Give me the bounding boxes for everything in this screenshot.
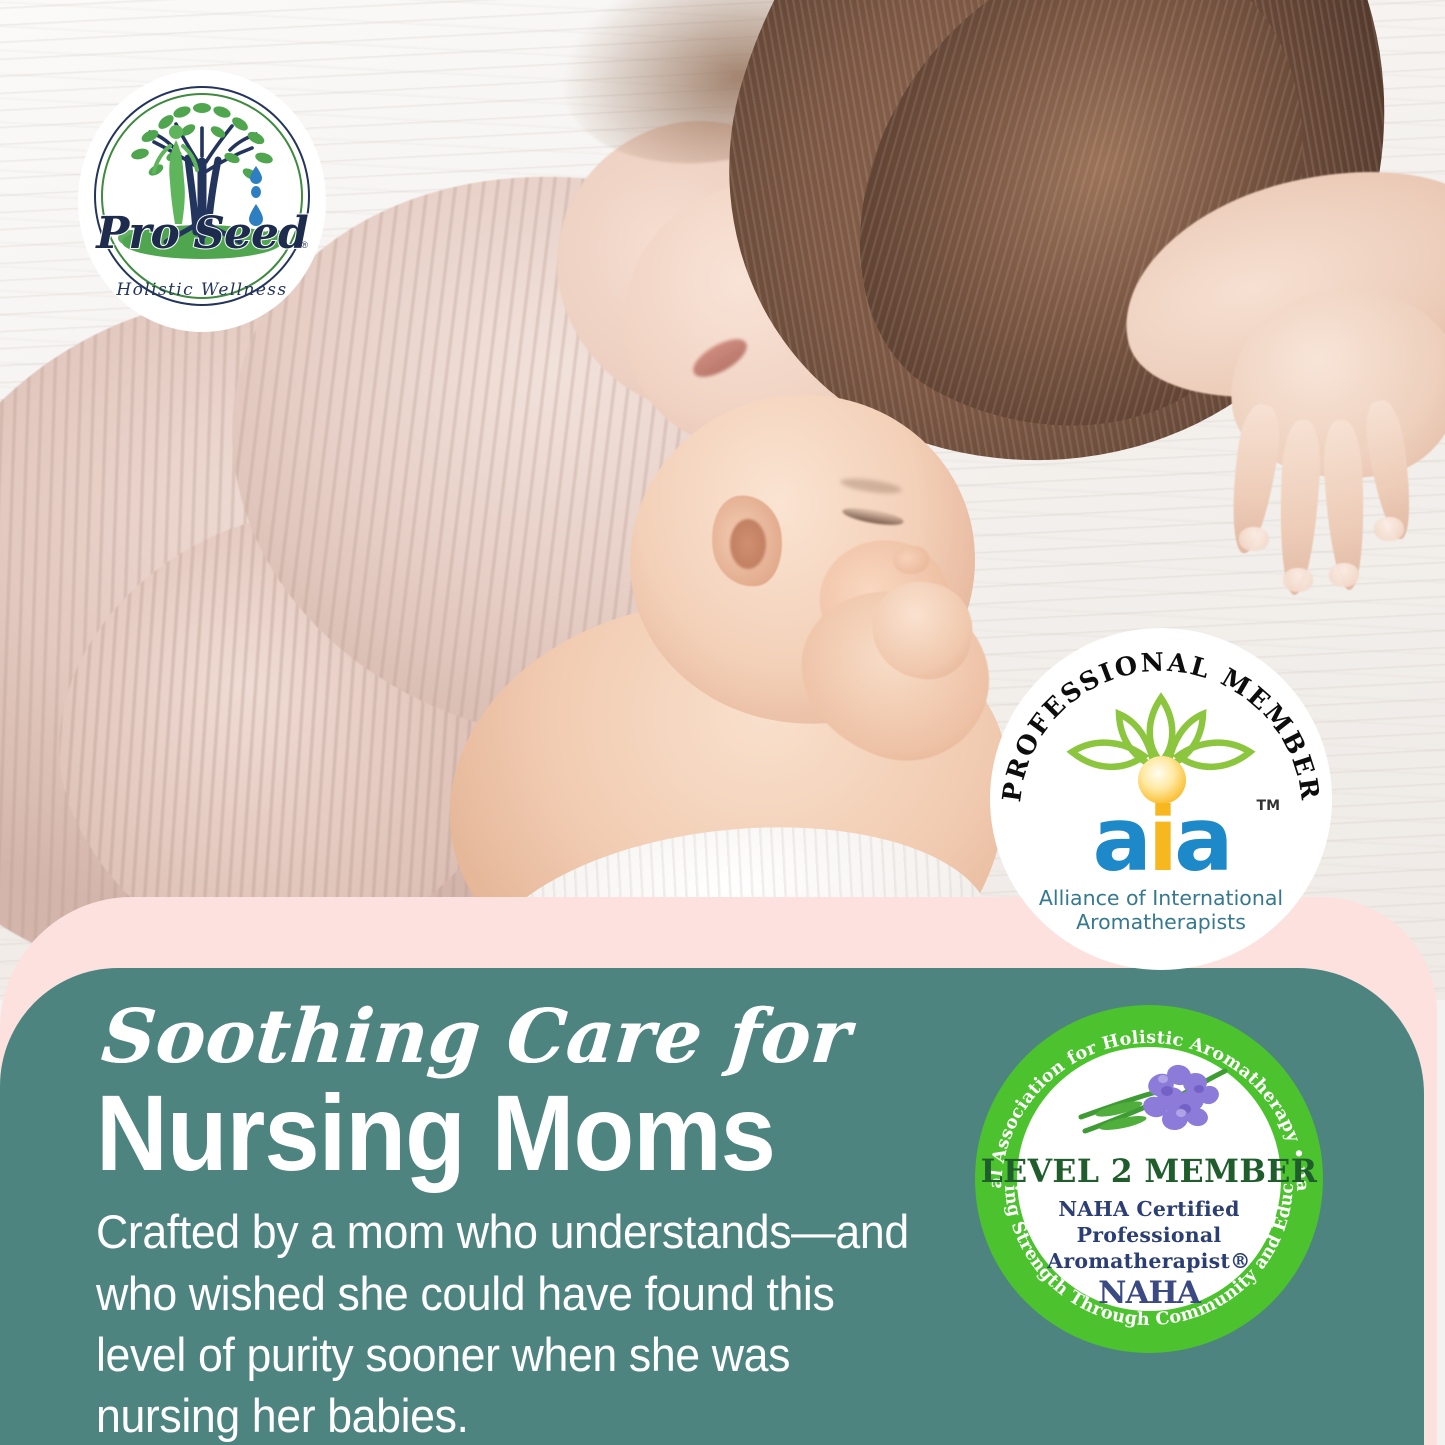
lavender-sprig-icon — [1075, 1055, 1231, 1147]
body-paragraph: Crafted by a mom who understands—and who… — [96, 1201, 932, 1445]
copy-block: Soothing Care for Nursing Moms Crafted b… — [96, 1000, 976, 1445]
aia-subtitle: Alliance of International Aromatherapist… — [990, 886, 1332, 934]
fingernail — [1283, 568, 1313, 592]
fingernail — [1374, 517, 1404, 541]
registered-mark: ® — [301, 240, 308, 250]
naha-cert-line-3: Aromatherapist® — [975, 1249, 1323, 1275]
aia-letter-a2: a — [1174, 788, 1229, 891]
logo-script-text: Pro Seed — [78, 208, 326, 259]
naha-cert-line-1: NAHA Certified — [975, 1197, 1323, 1223]
promotional-graphic: Soothing Care for Nursing Moms Crafted b… — [0, 0, 1445, 1445]
naha-level-label: LEVEL 2 MEMBER — [975, 1153, 1323, 1190]
proseed-logo: Pro Seed ® Holistic Wellness — [78, 70, 326, 332]
aia-wordmark: aia — [990, 796, 1332, 884]
aia-letter-i: i — [1148, 788, 1174, 891]
naha-certification-label: NAHA Certified Professional Aromatherapi… — [975, 1197, 1323, 1274]
main-headline: Nursing Moms — [96, 1079, 906, 1187]
aia-subtitle-line-1: Alliance of International — [990, 886, 1332, 910]
fingernail — [1239, 527, 1269, 551]
baby-ear-inner — [730, 519, 766, 569]
aia-letter-a1: a — [1093, 788, 1148, 891]
aia-subtitle-line-2: Aromatherapists — [990, 910, 1332, 934]
script-headline: Soothing Care for — [99, 1000, 980, 1075]
fingernail — [1329, 563, 1359, 587]
naha-cert-line-2: Professional — [975, 1223, 1323, 1249]
naha-level-2-member-badge: National Association for Holistic Aromat… — [975, 1005, 1323, 1353]
logo-tagline: Holistic Wellness — [78, 280, 326, 300]
aia-trademark: TM — [1257, 798, 1280, 814]
naha-wordmark: NAHA — [975, 1275, 1323, 1311]
aia-professional-member-badge: PROFESSIONAL MEMBER aia TM Alliance of — [990, 628, 1332, 970]
